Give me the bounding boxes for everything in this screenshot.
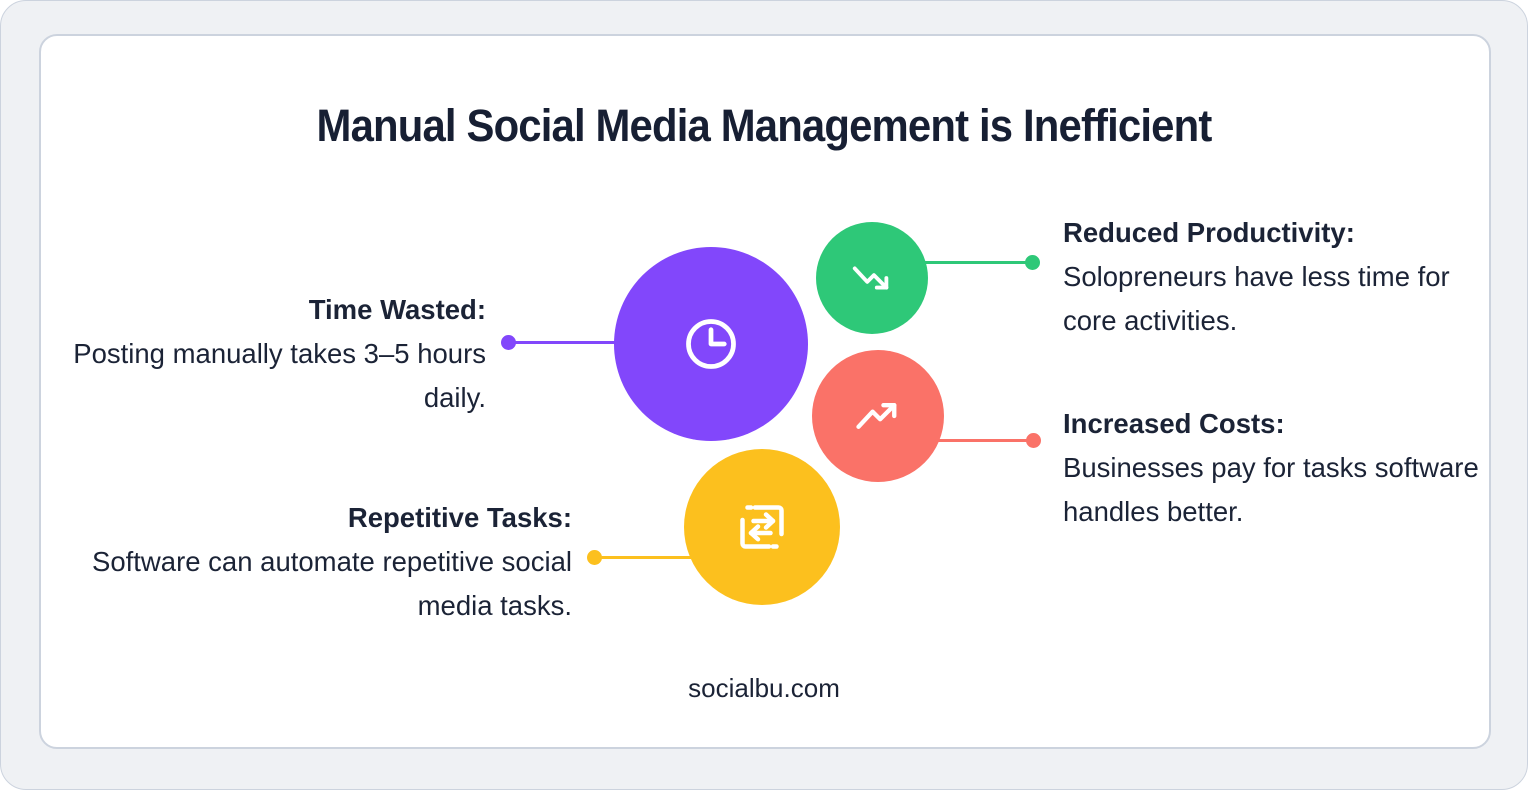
page-title: Manual Social Media Management is Ineffi… — [53, 100, 1474, 152]
connector-dot-repetitive-tasks — [587, 550, 602, 565]
bubble-increased-costs — [812, 350, 944, 482]
callout-reduced-productivity: Reduced Productivity: Solopreneurs have … — [1063, 211, 1483, 343]
callout-lead: Time Wasted: — [60, 288, 486, 332]
callout-lead: Repetitive Tasks: — [60, 496, 572, 540]
trend-up-arrow-icon — [852, 390, 904, 442]
bubble-reduced-productivity — [816, 222, 928, 334]
callout-body: Solopreneurs have less time for core act… — [1063, 255, 1483, 343]
connector-dot-time-wasted — [501, 335, 516, 350]
connector-line-increased-costs — [935, 439, 1037, 442]
callout-lead: Increased Costs: — [1063, 402, 1483, 446]
bubble-repetitive-tasks — [684, 449, 840, 605]
trend-down-arrow-icon — [849, 255, 895, 301]
connector-line-reduced-productivity — [921, 261, 1036, 264]
bubble-time-wasted — [614, 247, 808, 441]
footer-website: socialbu.com — [0, 673, 1528, 704]
swap-repeat-icon — [732, 497, 792, 557]
connector-dot-increased-costs — [1026, 433, 1041, 448]
callout-body: Businesses pay for tasks software handle… — [1063, 446, 1483, 534]
callout-repetitive-tasks: Repetitive Tasks: Software can automate … — [60, 496, 572, 628]
connector-dot-reduced-productivity — [1025, 255, 1040, 270]
callout-time-wasted: Time Wasted: Posting manually takes 3–5 … — [60, 288, 486, 420]
callout-lead: Reduced Productivity: — [1063, 211, 1483, 255]
callout-body: Software can automate repetitive social … — [60, 540, 572, 628]
callout-body: Posting manually takes 3–5 hours daily. — [60, 332, 486, 420]
callout-increased-costs: Increased Costs: Businesses pay for task… — [1063, 402, 1483, 534]
clock-icon — [681, 314, 741, 374]
